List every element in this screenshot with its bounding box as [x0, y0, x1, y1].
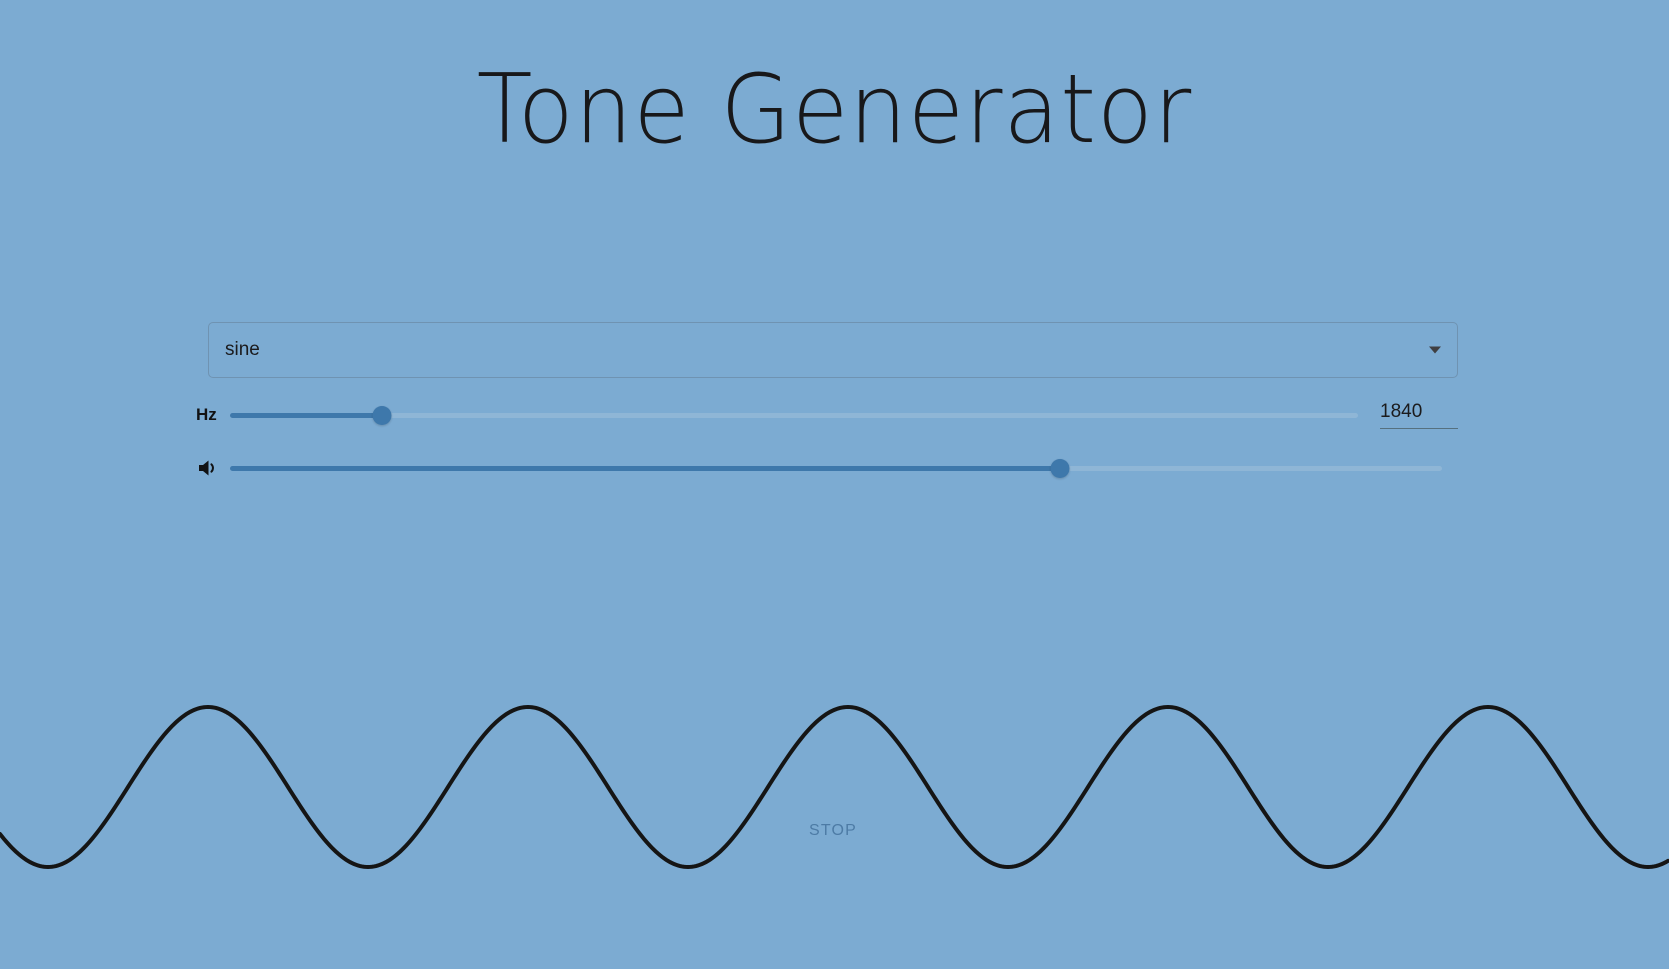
waveform-select[interactable]: sine	[208, 322, 1458, 378]
page-title: Tone Generator	[33, 58, 1635, 163]
frequency-number-field[interactable]: 1840	[1380, 401, 1458, 429]
frequency-field-underline	[1380, 428, 1458, 429]
frequency-row: Hz 1840	[208, 393, 1458, 437]
frequency-slider-thumb[interactable]	[373, 406, 392, 425]
volume-slider-fill	[230, 466, 1060, 471]
chevron-down-icon	[1429, 347, 1441, 354]
volume-up-icon[interactable]	[196, 457, 230, 479]
volume-slider-thumb[interactable]	[1051, 459, 1070, 478]
volume-row	[208, 446, 1458, 490]
control-panel: sine Hz 1840 STOP	[208, 322, 1458, 490]
frequency-label: Hz	[196, 405, 230, 425]
frequency-slider-fill	[230, 413, 382, 418]
volume-slider[interactable]	[230, 457, 1442, 479]
frequency-value: 1840	[1380, 401, 1458, 428]
waveform-select-value: sine	[225, 339, 260, 361]
frequency-slider-track	[230, 413, 1358, 418]
waveform-display	[0, 649, 1669, 969]
frequency-slider[interactable]	[230, 404, 1358, 426]
